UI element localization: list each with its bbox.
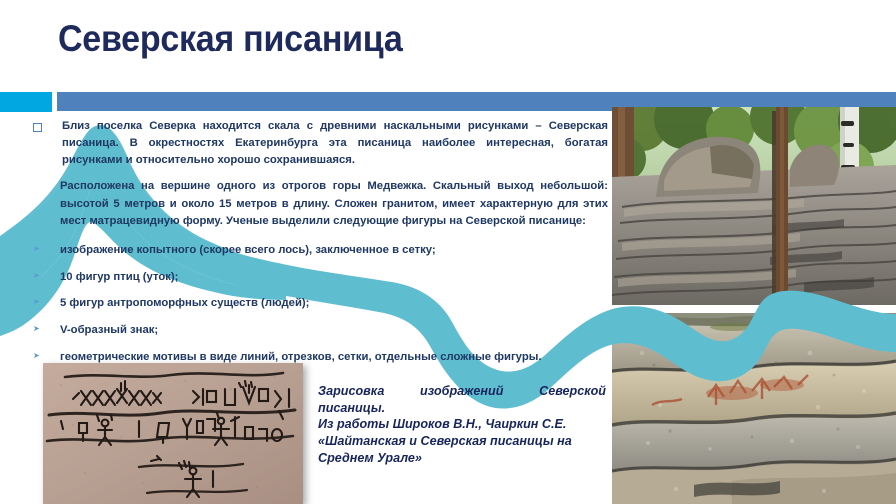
caption-line-2: писаницы. [318, 400, 606, 417]
slide-canvas: Северская писаница Близ поселка Северка … [0, 0, 896, 504]
caption-line-3: Из работы Широков В.Н., Чаиркин С.Е. [318, 416, 606, 433]
paragraph-text: Расположена на вершине одного из отрогов… [60, 178, 608, 229]
caption-line-1: Зарисовка изображений Северской [318, 383, 606, 400]
list-item: ➤ геометрические мотивы в виде линий, от… [33, 350, 608, 365]
rock-closeup-illustration [612, 313, 896, 504]
hollow-square-bullet-icon [33, 123, 42, 132]
page-title: Северская писаница [58, 18, 702, 59]
rock-outcrop-illustration [612, 107, 896, 305]
list-item-label: геометрические мотивы в виде линий, отре… [60, 350, 608, 365]
arrow-bullet-icon: ➤ [33, 272, 41, 280]
list-item-label: 5 фигур антропоморфных существ (людей); [60, 296, 608, 311]
bullet-placeholder [33, 183, 40, 190]
petroglyph-sketch-illustration [43, 363, 303, 504]
photo-matrace-rock-outcrop [612, 107, 896, 305]
arrow-bullet-icon: ➤ [33, 352, 41, 360]
list-item-label: 10 фигур птиц (уток); [60, 270, 608, 285]
photo-petroglyph-sketch [43, 363, 303, 504]
body-content: Близ поселка Северка находится скала с д… [33, 118, 608, 376]
arrow-bullet-icon: ➤ [33, 245, 41, 253]
paragraph-row: Близ поселка Северка находится скала с д… [33, 118, 608, 169]
photo-rock-closeup-pictographs [612, 313, 896, 504]
figure-list: ➤ изображение копытного (скорее всего ло… [33, 243, 608, 364]
caption-line-5: Среднем Урале» [318, 450, 606, 467]
list-item-label: изображение копытного (скорее всего лось… [60, 243, 608, 258]
arrow-bullet-icon: ➤ [33, 325, 41, 333]
list-item: ➤ изображение копытного (скорее всего ло… [33, 243, 608, 258]
list-item: ➤ 5 фигур антропоморфных существ (людей)… [33, 296, 608, 311]
list-item: ➤ 10 фигур птиц (уток); [33, 270, 608, 285]
caption-line-4: «Шайтанская и Северская писаницы на [318, 433, 606, 450]
arrow-bullet-icon: ➤ [33, 298, 41, 306]
list-item: ➤ V-образный знак; [33, 323, 608, 338]
list-item-label: V-образный знак; [60, 323, 608, 338]
paragraph-text: Близ поселка Северка находится скала с д… [62, 118, 608, 169]
image-caption: Зарисовка изображений Северской писаницы… [318, 383, 606, 467]
accent-bar-cyan [0, 92, 52, 112]
paragraph-row: Расположена на вершине одного из отрогов… [33, 178, 608, 229]
